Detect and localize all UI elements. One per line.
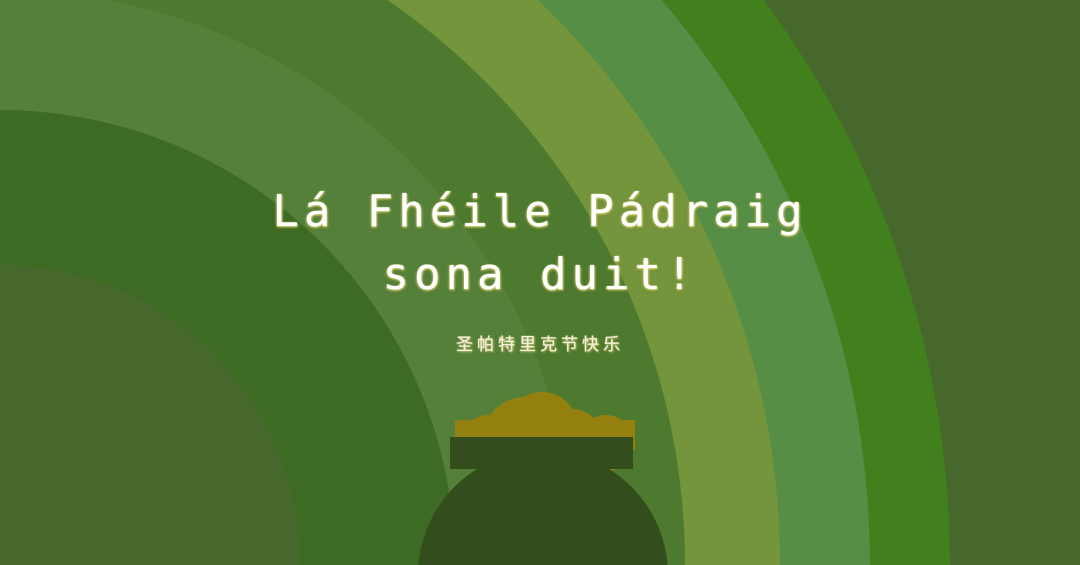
rainbow-band-2 [0, 0, 950, 565]
gold-coins-base [455, 420, 635, 450]
rainbow-band-6 [0, 0, 575, 565]
rainbow-band-1-outer [0, 0, 1020, 565]
rainbow-arcs [0, 0, 1080, 565]
pot-body [418, 450, 668, 565]
greeting-line-2: sona duit! [0, 243, 1080, 306]
greeting-line-1: Lá Fhéile Pádraig [0, 180, 1080, 243]
rainbow-band-5 [0, 0, 685, 565]
gold-coin-5 [506, 392, 578, 464]
greeting-card: Lá Fhéile Pádraig sona duit! 圣帕特里克节快乐 [0, 0, 1080, 565]
gold-coin-2 [537, 409, 605, 477]
pot-of-gold [0, 0, 1080, 565]
gold-coin-1 [483, 397, 567, 481]
rainbow-band-4 [0, 0, 780, 565]
greeting-subtitle: 圣帕特里克节快乐 [0, 330, 1080, 355]
rainbow-band-7 [0, 110, 455, 565]
text-block: Lá Fhéile Pádraig sona duit! 圣帕特里克节快乐 [0, 0, 1080, 565]
rainbow-band-8-inner [0, 265, 300, 565]
pot-rim [450, 437, 633, 469]
rainbow-band-3 [0, 0, 870, 565]
gold-coin-3 [578, 415, 634, 471]
greeting-heading: Lá Fhéile Pádraig sona duit! [0, 180, 1080, 306]
gold-coin-4 [462, 415, 514, 467]
